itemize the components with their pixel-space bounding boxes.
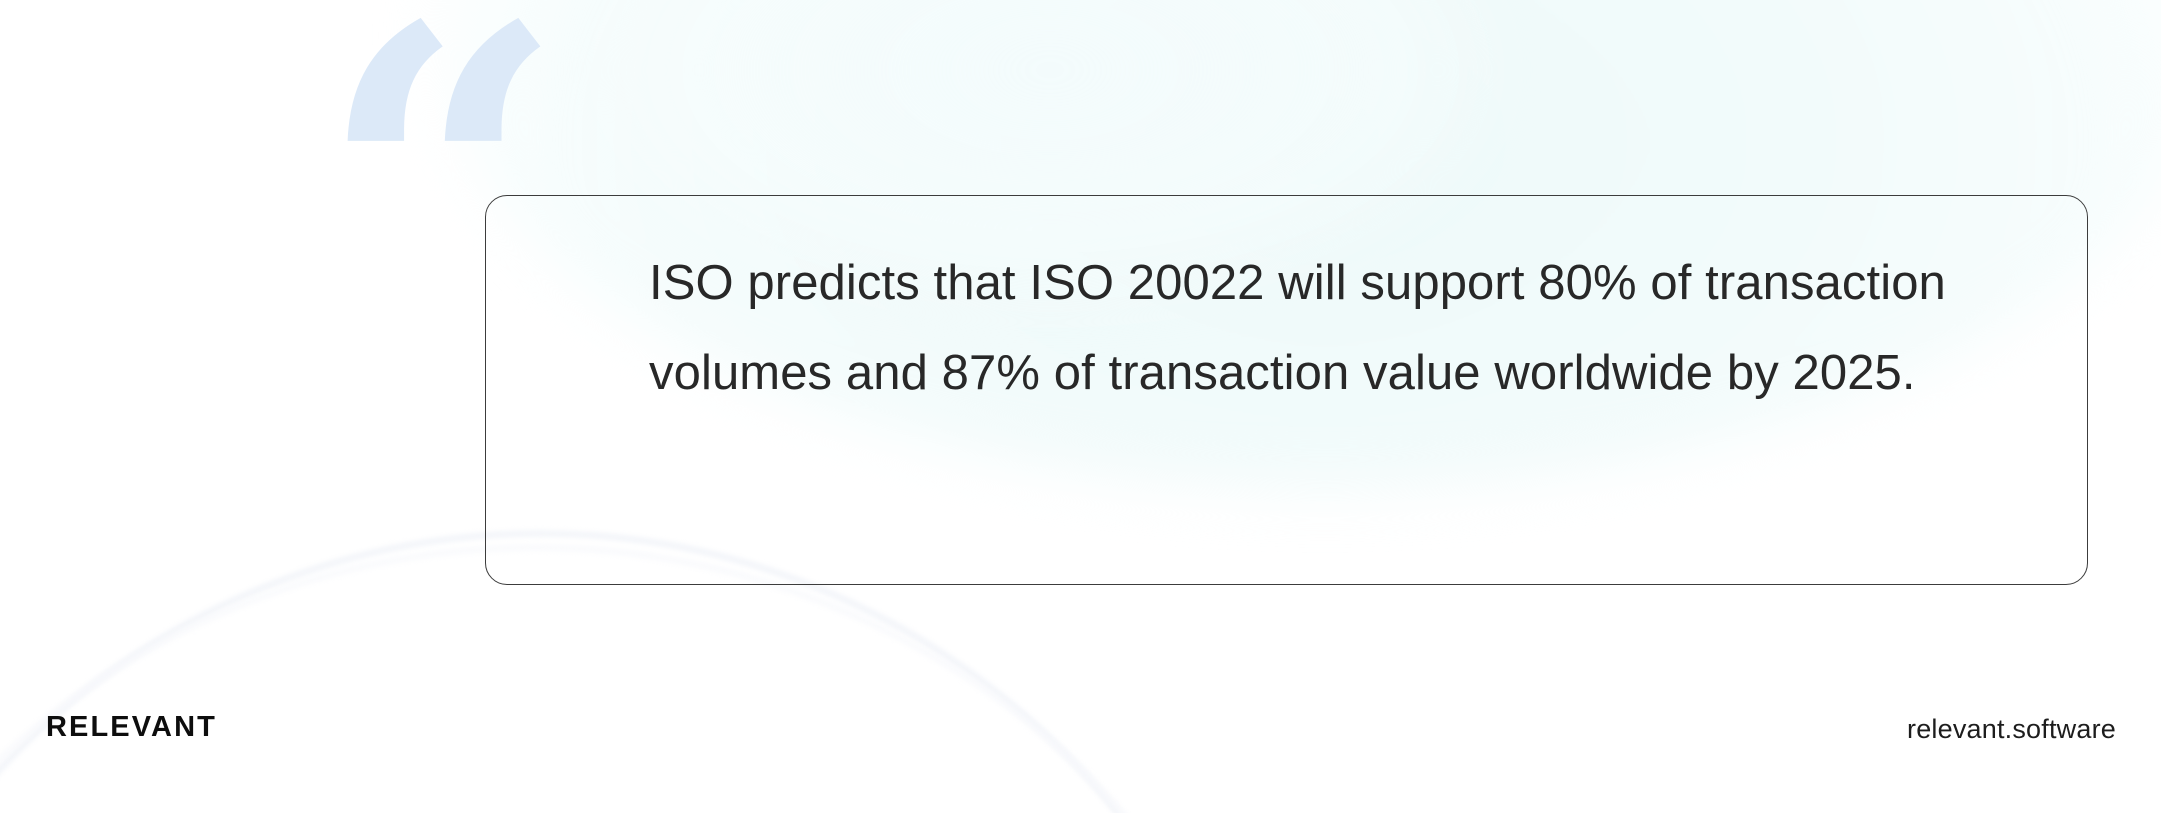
website-url-label[interactable]: relevant.software (1907, 716, 2116, 743)
quote-text: ISO predicts that ISO 20022 will support… (649, 238, 1989, 418)
faint-circle-arc-outer (0, 545, 1320, 813)
quote-card: ISO predicts that ISO 20022 will support… (485, 195, 2088, 585)
relevant-logo: RELEVANT (46, 713, 217, 742)
quote-card-slide: “ ISO predicts that ISO 20022 will suppo… (0, 0, 2161, 813)
